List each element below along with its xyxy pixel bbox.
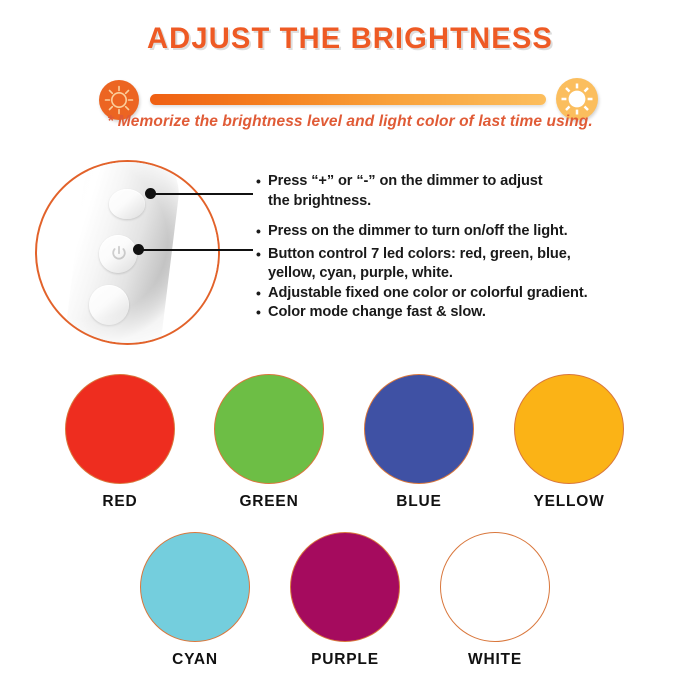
swatch-circle-red[interactable] <box>65 374 175 484</box>
swatch-red[interactable]: RED <box>65 374 175 511</box>
swatch-circle-yellow[interactable] <box>514 374 624 484</box>
bullet-line: Color mode change fast & slow. <box>268 304 486 320</box>
swatch-blue[interactable]: BLUE <box>364 374 474 511</box>
swatch-circle-white[interactable] <box>440 532 550 642</box>
power-icon <box>111 245 127 262</box>
swatch-cyan[interactable]: CYAN <box>140 532 250 669</box>
bullet-line: Press on the dimmer to turn on/off the l… <box>268 223 568 239</box>
swatch-label-white: WHITE <box>440 651 550 669</box>
bullet-line: the brightness. <box>268 193 371 209</box>
instruction-list: Press “+” or “-” on the dimmer to adjust… <box>256 172 680 323</box>
list-item-onoff: Press on the dimmer to turn on/off the l… <box>256 222 680 242</box>
swatch-label-yellow: YELLOW <box>514 493 624 511</box>
minus-button[interactable] <box>89 285 129 325</box>
swatch-white[interactable]: WHITE <box>440 532 550 669</box>
swatch-label-blue: BLUE <box>364 493 474 511</box>
list-item-gradient: Adjustable fixed one color or colorful g… <box>256 284 680 304</box>
header: ADJUST THE BRIGHTNESS <box>0 22 700 100</box>
page-title: ADJUST THE BRIGHTNESS <box>11 22 690 56</box>
list-item-mode-speed: Color mode change fast & slow. <box>256 303 680 323</box>
bullet-line: yellow, cyan, purple, white. <box>268 265 453 281</box>
leader-line-plus <box>154 193 253 195</box>
brightness-gradient-bar[interactable] <box>150 94 546 105</box>
bullet-line: Button control 7 led colors: red, green,… <box>268 246 571 262</box>
swatch-label-cyan: CYAN <box>140 651 250 669</box>
swatch-circle-purple[interactable] <box>290 532 400 642</box>
plus-button[interactable] <box>109 189 145 219</box>
dimmer-photo <box>35 160 220 345</box>
swatch-purple[interactable]: PURPLE <box>290 532 400 669</box>
brightness-instruction-page: ADJUST THE BRIGHTNESS <box>0 0 700 700</box>
leader-line-power <box>142 249 253 251</box>
list-item-brightness: Press “+” or “-” on the dimmer to adjust… <box>256 172 680 211</box>
swatch-label-green: GREEN <box>214 493 324 511</box>
swatch-circle-blue[interactable] <box>364 374 474 484</box>
swatch-yellow[interactable]: YELLOW <box>514 374 624 511</box>
leader-dot-plus <box>145 188 156 199</box>
swatch-green[interactable]: GREEN <box>214 374 324 511</box>
swatch-label-purple: PURPLE <box>290 651 400 669</box>
bullet-line: Adjustable fixed one color or colorful g… <box>268 285 588 301</box>
swatch-label-red: RED <box>65 493 175 511</box>
subtitle-note: * Memorize the brightness level and ligh… <box>0 113 700 131</box>
leader-dot-power <box>133 244 144 255</box>
list-item-colors: Button control 7 led colors: red, green,… <box>256 245 680 284</box>
bullet-line: Press “+” or “-” on the dimmer to adjust <box>268 173 543 189</box>
swatch-circle-green[interactable] <box>214 374 324 484</box>
swatch-circle-cyan[interactable] <box>140 532 250 642</box>
